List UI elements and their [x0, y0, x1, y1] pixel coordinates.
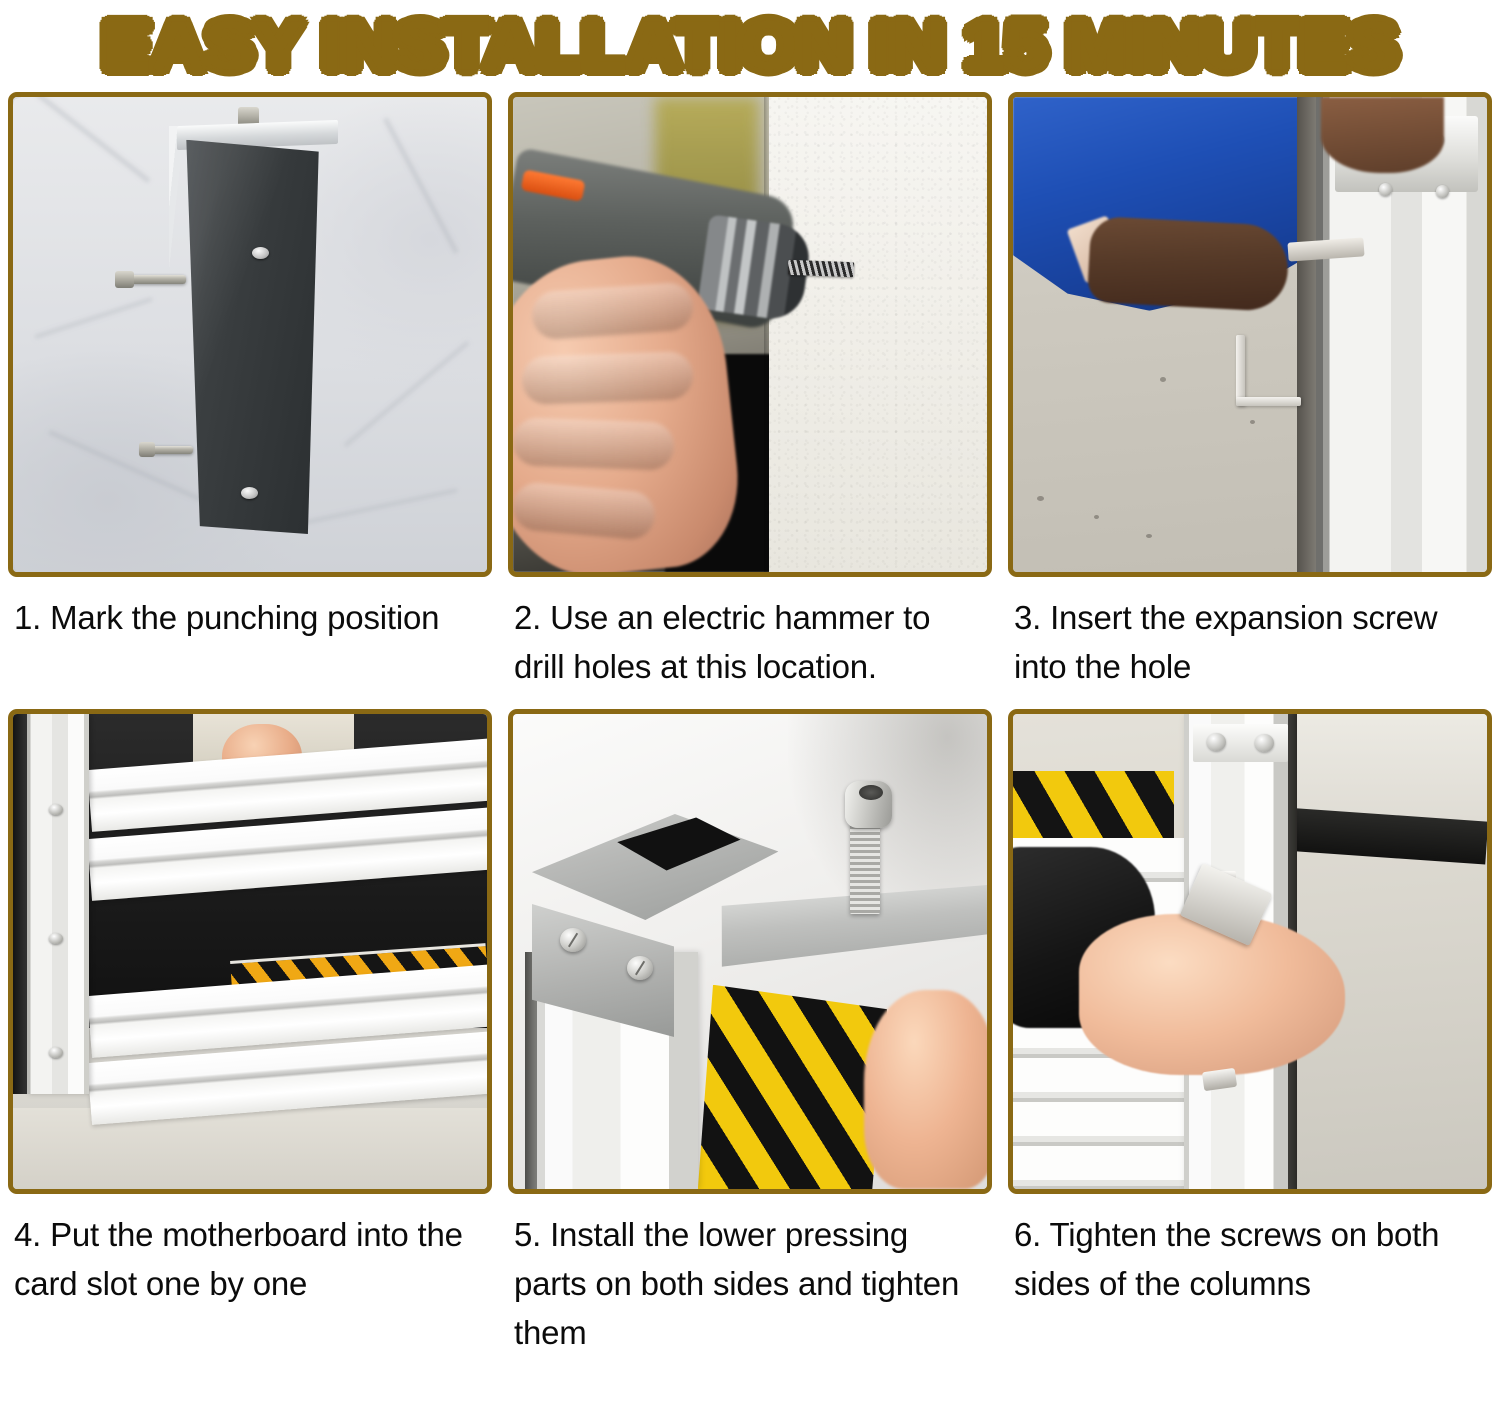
- step-caption-5: 5. Install the lower pressing parts on b…: [508, 1194, 992, 1357]
- photo-mark-punching-position: [13, 97, 487, 572]
- step-caption-2: 2. Use an electric hammer to drill holes…: [508, 577, 992, 709]
- step-caption-6: 6. Tighten the screws on both sides of t…: [1008, 1194, 1492, 1344]
- photo-frame-1: [8, 92, 492, 577]
- photo-frame-2: [508, 92, 992, 577]
- header-banner: EASY INSTALLATION IN 15 MINUTES: [0, 0, 1500, 92]
- step-caption-4: 4. Put the motherboard into the card slo…: [8, 1194, 492, 1344]
- photo-frame-6: [1008, 709, 1492, 1194]
- step-card-6: 6. Tighten the screws on both sides of t…: [1008, 709, 1492, 1357]
- step-card-3: 3. Insert the expansion screw into the h…: [1008, 92, 1492, 709]
- step-caption-1: 1. Mark the punching position: [8, 577, 492, 709]
- step-card-5: 5. Install the lower pressing parts on b…: [508, 709, 992, 1357]
- photo-frame-4: [8, 709, 492, 1194]
- photo-drill-holes: [513, 97, 987, 572]
- step-card-2: 2. Use an electric hammer to drill holes…: [508, 92, 992, 709]
- photo-install-pressing-parts: [513, 714, 987, 1189]
- photo-frame-3: [1008, 92, 1492, 577]
- photo-frame-5: [508, 709, 992, 1194]
- step-caption-3: 3. Insert the expansion screw into the h…: [1008, 577, 1492, 709]
- photo-insert-expansion-screw: [1013, 97, 1487, 572]
- photo-tighten-screws: [1013, 714, 1487, 1189]
- photo-insert-boards: [13, 714, 487, 1189]
- step-card-4: 4. Put the motherboard into the card slo…: [8, 709, 492, 1357]
- page-title: EASY INSTALLATION IN 15 MINUTES: [102, 11, 1398, 81]
- installation-steps-grid: 1. Mark the punching position 2. Use: [0, 92, 1500, 1357]
- step-card-1: 1. Mark the punching position: [8, 92, 492, 709]
